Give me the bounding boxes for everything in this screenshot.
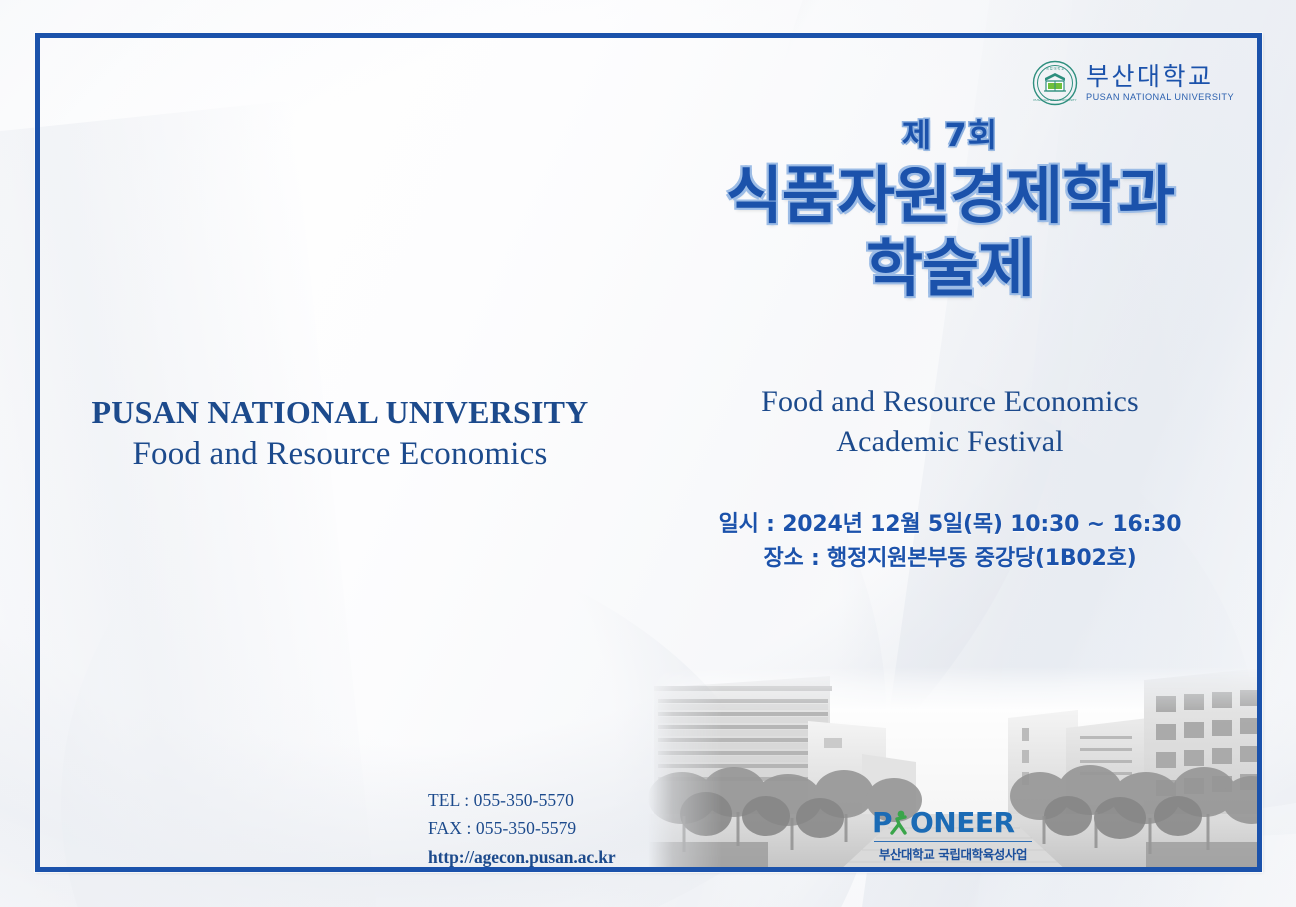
department-university-name: PUSAN NATIONAL UNIVERSITY <box>40 392 640 433</box>
contact-block: TEL : 055-350-5570 FAX : 055-350-5579 ht… <box>428 786 616 871</box>
event-title-line2: 학술제 <box>650 232 1250 305</box>
contact-fax: FAX : 055-350-5579 <box>428 814 616 842</box>
event-edition: 제 7회 <box>650 118 1250 153</box>
event-subtitle-line2: Academic Festival <box>650 422 1250 462</box>
university-logo: 국 립 대 학 교 PUSAN NATIONAL UNIVERSITY 부산대학… <box>1032 60 1234 106</box>
event-place: 장소 : 행정지원본부동 중강당(1B02호) <box>650 542 1250 576</box>
university-wordmark: 부산대학교 PUSAN NATIONAL UNIVERSITY <box>1086 64 1234 102</box>
event-subtitle-line1: Food and Resource Economics <box>650 382 1250 422</box>
svg-text:P: P <box>872 806 893 839</box>
event-datetime: 일시 : 2024년 12월 5일(목) 10:30 ~ 16:30 <box>650 508 1250 542</box>
event-title: 식품자원경제학과 학술제 <box>650 159 1250 305</box>
schedule-block: 일시 : 2024년 12월 5일(목) 10:30 ~ 16:30 장소 : … <box>650 508 1250 576</box>
svg-text:ONEER: ONEER <box>910 806 1015 839</box>
contact-tel: TEL : 055-350-5570 <box>428 786 616 814</box>
event-title-line1: 식품자원경제학과 <box>726 159 1174 232</box>
university-name-korean: 부산대학교 <box>1086 64 1234 89</box>
svg-text:국 립 대 학 교: 국 립 대 학 교 <box>1046 66 1064 71</box>
pioneer-subtitle: 부산대학교 국립대학육성사업 <box>872 844 1034 863</box>
contact-website[interactable]: http://agecon.pusan.ac.kr <box>428 843 616 871</box>
headline-block: 제 7회 식품자원경제학과 학술제 <box>650 118 1250 306</box>
svg-text:PUSAN NATIONAL UNIVERSITY: PUSAN NATIONAL UNIVERSITY <box>1033 98 1076 102</box>
university-name-english: PUSAN NATIONAL UNIVERSITY <box>1086 93 1234 102</box>
department-name: Food and Resource Economics <box>40 433 640 475</box>
pioneer-runner-glyph <box>892 811 905 833</box>
pioneer-wordmark-icon: P ONEER <box>872 806 1034 840</box>
pioneer-logo: P ONEER 부산대학교 국립대학육성사업 <box>872 806 1034 863</box>
event-subtitle-english: Food and Resource Economics Academic Fes… <box>650 382 1250 461</box>
poster-canvas: 국 립 대 학 교 PUSAN NATIONAL UNIVERSITY 부산대학… <box>0 0 1296 907</box>
department-block: PUSAN NATIONAL UNIVERSITY Food and Resou… <box>40 392 640 475</box>
pioneer-divider <box>874 841 1032 842</box>
pnu-seal-icon: 국 립 대 학 교 PUSAN NATIONAL UNIVERSITY <box>1032 60 1078 106</box>
